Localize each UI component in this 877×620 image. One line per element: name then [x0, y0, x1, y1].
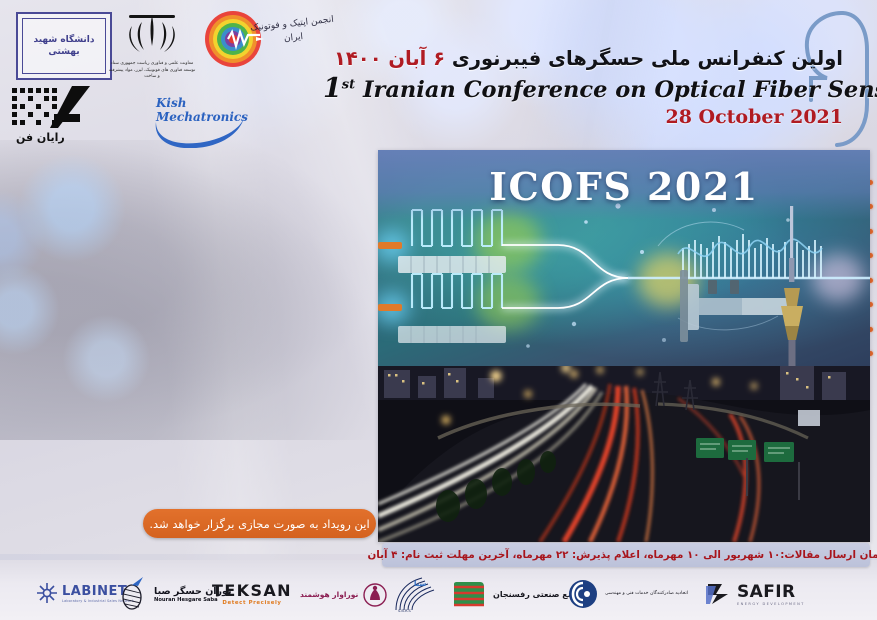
- sponsor-logo-row: LABINET Laboratory & Industrial Sales Ne…: [0, 568, 877, 620]
- kish-mechatronics-logo: Kish Mechatronics: [148, 96, 256, 140]
- shahid-beheshti-university-logo: دانشگاه شهید بهشتی: [16, 12, 112, 80]
- safir-name: SAFIR: [737, 582, 805, 602]
- labinet-mark-icon: [36, 582, 58, 604]
- union-mark-icon: [568, 579, 598, 609]
- teksan-name: TEKSAN: [212, 581, 292, 600]
- nooravar-hooshmand-logo: نوراوار هوشمند: [300, 582, 388, 608]
- background-fiber-glow: [0, 150, 210, 440]
- deadline-bar: زمان ارسال مقالات:۱۰ شهریور الی ۱۰ مهرما…: [382, 543, 870, 567]
- deadline-text: زمان ارسال مقالات:۱۰ شهریور الی ۱۰ مهرما…: [367, 549, 877, 561]
- persian-date: ۶ آبان ۱۴۰۰: [334, 47, 445, 70]
- persian-conference-title: اولین کنفرانس ملی حسگرهای فیبرنوری ۶ آبا…: [323, 48, 843, 70]
- sarv-logo: سبا S.B.R.S: [392, 576, 438, 612]
- english-conference-title: 1st Iranian Conference on Optical Fiber …: [323, 73, 843, 104]
- headline-block: اولین کنفرانس ملی حسگرهای فیبرنوری ۶ آبا…: [323, 48, 843, 128]
- sarv-sub: S.B.R.S: [398, 609, 412, 612]
- iran-emblem-caption: معاونت علمی و فناوری ریاست جمهوری ستاد ت…: [108, 61, 196, 81]
- persian-title-text: اولین کنفرانس ملی حسگرهای فیبرنوری: [452, 47, 843, 70]
- nouran-mark-icon: [118, 577, 148, 611]
- iran-vice-presidency-emblem: معاونت علمی و فناوری ریاست جمهوری ستاد ت…: [120, 14, 184, 68]
- english-date: 28 October 2021: [323, 106, 843, 128]
- rafsanjan-industrial-complex-logo: مجتمع صنعتی رفسنجان: [452, 580, 587, 608]
- safir-logo: SAFIR ENERGY DEVELOPMENT: [706, 582, 805, 606]
- safir-tagline: ENERGY DEVELOPMENT: [737, 602, 805, 606]
- rayan-fan-logo: رایان فن: [10, 84, 120, 142]
- nooravar-name: نوراوار هوشمند: [300, 589, 358, 600]
- sbu-logo-text: دانشگاه شهید بهشتی: [22, 18, 106, 74]
- rayan-fan-label: رایان فن: [16, 131, 65, 144]
- teksan-logo: TEKSAN Detect Precisely: [212, 581, 292, 606]
- conference-poster: دانشگاه شهید بهشتی معاونت علمی و فناوری …: [0, 0, 877, 620]
- nooravar-mark-icon: [362, 582, 388, 608]
- virtual-event-text: این رویداد به صورت مجازی برگزار خواهد شد…: [149, 517, 369, 531]
- svg-text:سبا: سبا: [414, 580, 426, 588]
- highway-night-photo: [378, 366, 870, 542]
- safir-mark-icon: [706, 582, 732, 606]
- teksan-tagline: Detect Precisely: [212, 600, 292, 606]
- engineering-services-union-logo: اتحادیه صادرکنندگان خدمات فنی و مهندسی: [568, 579, 688, 609]
- conference-acronym: ICOFS 2021: [378, 164, 870, 209]
- rafsanjan-mark-icon: [452, 580, 486, 608]
- ordinal-number: 1: [323, 73, 342, 104]
- ordinal-suffix: st: [342, 78, 355, 93]
- english-title-text: Iranian Conference on Optical Fiber Sens…: [363, 77, 877, 103]
- virtual-event-banner: این رویداد به صورت مجازی برگزار خواهد شد…: [143, 509, 376, 538]
- hero-image-card: ICOFS 2021: [378, 150, 870, 542]
- union-name: اتحادیه صادرکنندگان خدمات فنی و مهندسی: [605, 590, 688, 597]
- sarv-mark-icon: سبا S.B.R.S: [392, 576, 438, 612]
